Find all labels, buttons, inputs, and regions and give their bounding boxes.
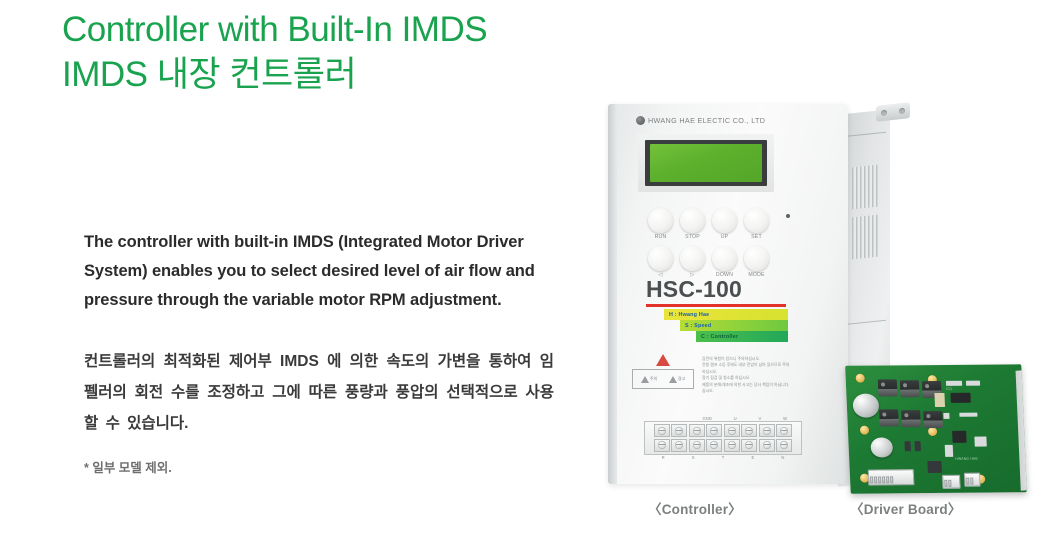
terminal-cell [671, 424, 687, 437]
terminal-cell [706, 424, 722, 437]
side-seam-top [842, 132, 886, 138]
terminal-cell [706, 439, 722, 452]
screw-icon [658, 441, 666, 449]
smd-component [974, 437, 986, 447]
vent-slots-lower [852, 215, 878, 260]
smd-component [905, 441, 911, 451]
ic-chip-icon [950, 393, 970, 403]
terminal-cell [759, 424, 775, 437]
screw-icon [745, 441, 753, 449]
stripe-speed: S : Speed [680, 320, 788, 331]
terminal-cell [654, 424, 670, 437]
warning-icon-box: 주의 경고 [632, 369, 694, 389]
lcd-bezel [645, 140, 767, 186]
key-up[interactable]: UP [712, 208, 737, 241]
connector-white-2pin [942, 475, 961, 489]
status-led-icon [786, 214, 790, 218]
connector-pin [966, 478, 969, 485]
key-down-button[interactable] [712, 246, 737, 271]
silkscreen-text: IC1 [946, 387, 952, 391]
smd-component [966, 381, 980, 386]
key-right[interactable]: ▷ [680, 246, 705, 279]
key-up-button[interactable] [712, 208, 737, 233]
terminal-label: V [759, 416, 762, 421]
terminal-cell [759, 439, 775, 452]
key-down[interactable]: DOWN [712, 246, 737, 279]
terminal-block: GND U V W [644, 416, 802, 460]
connector-pin [870, 477, 873, 484]
caption-driver-board: 〈Driver Board〉 [850, 498, 962, 518]
pcb-backing-plate [1016, 370, 1027, 491]
lcd-screen [650, 144, 762, 182]
paragraph-korean: 컨트롤러의 최적화된 제어부 IMDS 에 의한 속도의 가변을 통하여 임펠러… [84, 346, 554, 439]
warning-caution-icon: 경고 [669, 376, 685, 383]
connector-white-2pin [964, 473, 981, 487]
controller-front-panel: HWANG HAE ELECTIC CO., LTD RUN [608, 104, 848, 484]
title-english: Controller with Built-In IMDS [62, 8, 622, 52]
product-page: Controller with Built-In IMDS IMDS 내장 컨트… [0, 0, 1047, 560]
screw-icon [780, 441, 788, 449]
terminal-cell [724, 424, 740, 437]
product-photo-area: HWANG HAE ELECTIC CO., LTD RUN [560, 70, 1047, 560]
key-right-button[interactable] [680, 246, 705, 271]
terminal-cell [776, 424, 792, 437]
terminal-row-lower [647, 439, 799, 452]
key-mode[interactable]: MODE [744, 246, 769, 279]
connector-pin [886, 476, 889, 483]
terminal-body [644, 421, 802, 455]
key-left[interactable]: ◁ [648, 246, 673, 279]
key-set-button[interactable] [744, 208, 769, 233]
terminal-cell [671, 439, 687, 452]
screw-icon [763, 441, 771, 449]
brand-row: HWANG HAE ELECTIC CO., LTD [636, 116, 765, 125]
key-run-label: RUN [648, 234, 673, 241]
warning-triangle-icon [656, 354, 670, 366]
key-stop[interactable]: STOP [680, 208, 705, 241]
warning-icons: 주의 경고 [632, 354, 694, 394]
model-underline [646, 304, 786, 307]
terminal-cell [776, 439, 792, 452]
key-run[interactable]: RUN [648, 208, 673, 241]
terminal-label: U [734, 416, 737, 421]
terminal-label: GND [703, 416, 712, 421]
terminal-label: N [781, 455, 784, 460]
transistor-icon [923, 411, 943, 428]
terminal-cell [689, 424, 705, 437]
key-stop-label: STOP [680, 234, 705, 241]
caption-controller: 〈Controller〉 [648, 498, 742, 518]
terminal-cell [689, 439, 705, 452]
pcb-screw-icon [860, 426, 869, 435]
capacitor-icon [870, 437, 893, 457]
screw-icon [693, 427, 701, 435]
screw-icon [658, 427, 666, 435]
connector-pin [878, 476, 881, 483]
connector-pin [890, 476, 893, 483]
description-column: The controller with built-in IMDS (Integ… [84, 228, 554, 477]
keypad-row-2: ◁ ▷ DOWN MODE [648, 246, 770, 279]
transistor-icon [901, 410, 921, 427]
footnote-korean: * 일부 모델 제외. [84, 459, 554, 477]
screw-icon [710, 441, 718, 449]
terminal-label: E [751, 455, 754, 460]
connector-pin [944, 480, 947, 487]
terminal-cell [654, 439, 670, 452]
pcb-screw-icon [856, 374, 865, 383]
warning-label-block: 주의 경고 감전의 위험이 있으니 주의하십시오. 전원 램프 소등 후에도 내… [632, 354, 822, 394]
terminal-label: W [783, 416, 787, 421]
smd-component [943, 413, 949, 419]
mounting-tab [876, 102, 910, 122]
silkscreen-text: HWANG HAE [955, 457, 978, 461]
screw-icon [710, 427, 718, 435]
transistor-icon [879, 409, 899, 426]
warning-text-lines: 감전의 위험이 있으니 주의하십시오. 전원 램프 소등 후에도 내부 전압이 … [702, 354, 822, 394]
connector-pin [874, 476, 877, 483]
warning-shock-icon: 주의 [641, 376, 657, 383]
connector-pin [882, 476, 885, 483]
stripe-hwang-hae: H : Hwang Hae [664, 309, 788, 320]
gradient-label-block: H : Hwang Hae S : Speed C : Controller [664, 309, 788, 342]
screw-icon [675, 427, 683, 435]
transistor-icon [900, 380, 920, 397]
connector-pin [970, 478, 973, 485]
pcb-screw-icon [928, 427, 937, 436]
warning-line: 십시오. [702, 388, 822, 394]
side-seam-bottom [842, 320, 886, 326]
terminal-label: R [662, 455, 665, 460]
connector-pin [948, 480, 951, 487]
model-name-label: HSC-100 [646, 276, 742, 303]
key-run-button[interactable] [648, 208, 673, 233]
controller-unit: HWANG HAE ELECTIC CO., LTD RUN [608, 104, 848, 484]
smd-component [946, 381, 962, 386]
screw-icon [728, 441, 736, 449]
screw-icon [693, 441, 701, 449]
terminal-label: S [692, 455, 695, 460]
terminal-cell [741, 424, 757, 437]
screw-icon [780, 427, 788, 435]
connector-white-6pin [868, 469, 915, 485]
screw-icon [675, 441, 683, 449]
key-mode-label: MODE [744, 272, 769, 279]
key-mode-button[interactable] [744, 246, 769, 271]
ic-chip-icon [952, 431, 967, 443]
smd-component [915, 441, 921, 451]
terminal-cell [741, 439, 757, 452]
vent-slots-upper [852, 165, 878, 210]
terminal-bottom-labels: R S T E N [644, 455, 802, 460]
key-left-button[interactable] [648, 246, 673, 271]
key-stop-button[interactable] [680, 208, 705, 233]
stripe-controller: C : Controller [696, 331, 788, 342]
screw-icon [763, 427, 771, 435]
key-set-label: SET [744, 234, 769, 241]
title-korean: IMDS 내장 컨트롤러 [62, 52, 622, 98]
keypad[interactable]: RUN STOP UP SET [648, 208, 770, 281]
keypad-row-1: RUN STOP UP SET [648, 208, 770, 241]
transistor-icon [878, 379, 898, 396]
terminal-label: T [722, 455, 725, 460]
paragraph-english: The controller with built-in IMDS (Integ… [84, 228, 554, 315]
smd-component [945, 445, 954, 457]
terminal-row-upper [647, 424, 799, 437]
key-set[interactable]: SET [744, 208, 769, 241]
key-up-label: UP [712, 234, 737, 241]
screw-icon [745, 427, 753, 435]
smd-component [959, 413, 977, 417]
driver-board-unit: IC1 HWANG HAE [845, 364, 1027, 493]
smd-component [934, 393, 945, 407]
brand-label: HWANG HAE ELECTIC CO., LTD [648, 116, 765, 125]
terminal-cell [724, 439, 740, 452]
page-title: Controller with Built-In IMDS IMDS 내장 컨트… [62, 8, 622, 98]
company-logo-icon [636, 116, 645, 125]
capacitor-icon [852, 394, 879, 418]
smd-component [927, 461, 942, 473]
screw-icon [728, 427, 736, 435]
lcd-display-frame [638, 134, 774, 192]
